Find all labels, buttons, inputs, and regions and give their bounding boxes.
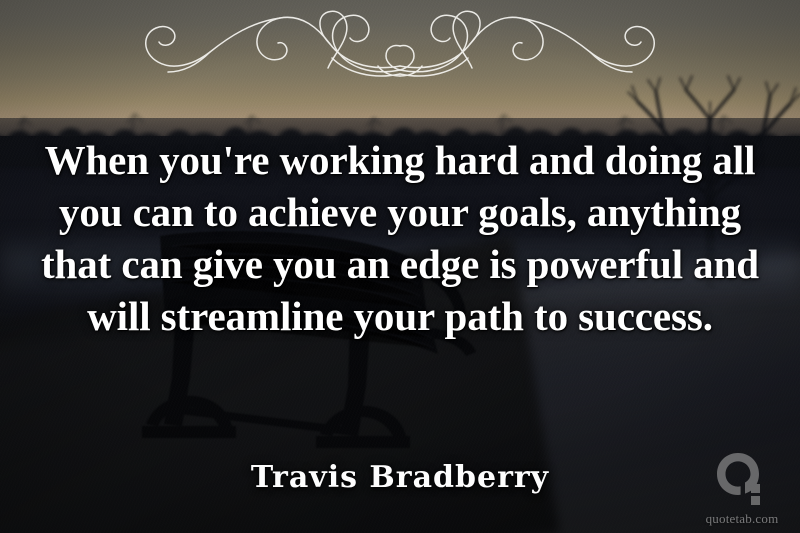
quote-card: When you're working hard and doing all y…	[0, 0, 800, 533]
card-content: When you're working hard and doing all y…	[0, 0, 800, 533]
quote-author: Travis Bradberry	[0, 460, 800, 495]
watermark[interactable]: quotetab.com	[694, 451, 790, 527]
decorative-flourish-divider-icon	[80, 6, 720, 90]
quotetab-q-logo-icon	[714, 451, 770, 509]
quote-text: When you're working hard and doing all y…	[26, 134, 774, 342]
watermark-text: quotetab.com	[706, 511, 779, 527]
